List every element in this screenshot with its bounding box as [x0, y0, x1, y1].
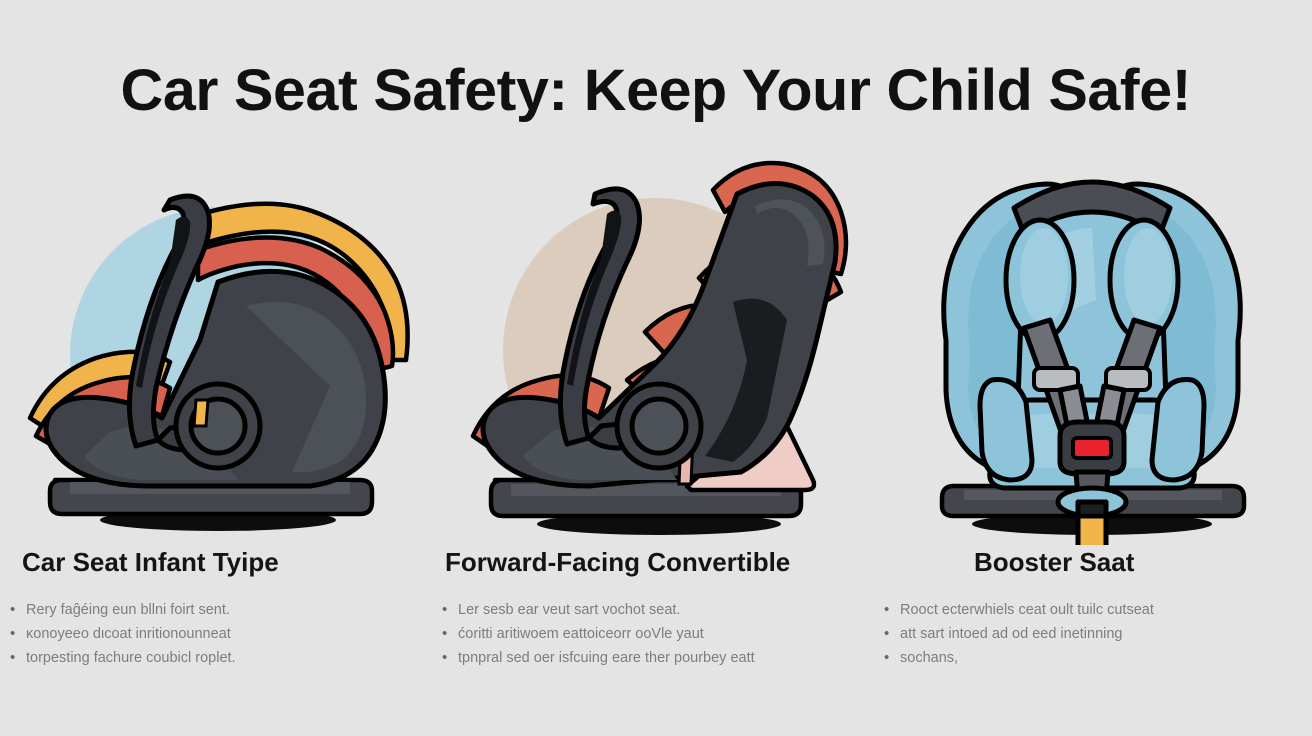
page-title: Car Seat Safety: Keep Your Child Safe! [121, 62, 1192, 120]
column-bullet-list: Ler sesb ear veut sart vochot seat. ćori… [437, 603, 874, 666]
list-item: att sart intoed ad od eed inetinning [884, 627, 1293, 642]
column-infant-car-seat: Car Seat Infant Tyipe Rery faĝéing eun b… [0, 150, 437, 710]
booster-seat-illustration [874, 150, 1311, 545]
list-item: Rery faĝéing eun bllni foirt sent. [10, 603, 419, 618]
hub-accent [194, 400, 208, 426]
list-item: sochans, [884, 651, 1293, 666]
list-item: ćoritti aritiwoem eattoiceorr ooVle yaut [442, 627, 856, 642]
columns-container: Car Seat Infant Tyipe Rery faĝéing eun b… [0, 150, 1312, 710]
title-bar: Car Seat Safety: Keep Your Child Safe! [0, 62, 1312, 120]
poster-canvas: Car Seat Safety: Keep Your Child Safe! [0, 0, 1312, 736]
column-1-text: Car Seat Infant Tyipe Rery faĝéing eun b… [0, 548, 437, 675]
crotch-strap [1078, 502, 1106, 545]
list-item: Rooct ecterwhiels ceat oult tuilc cutsea… [884, 603, 1293, 618]
column-bullet-list: Rery faĝéing eun bllni foirt sent. κonoy… [0, 603, 437, 666]
list-item: torpesting fachure coubicl roplet. [10, 651, 419, 666]
list-item: tpnpral sed oer isfcuing eare ther pourb… [442, 651, 856, 666]
pivot-hub [617, 384, 701, 468]
list-item: κonoyeeo dιcoat inritionounneat [10, 627, 419, 642]
forward-facing-convertible-illustration [437, 150, 874, 545]
column-3-text: Booster Saat Rooct ecterwhiels ceat oult… [874, 548, 1311, 675]
pivot-hub [176, 384, 260, 468]
column-heading: Forward-Facing Convertible [437, 548, 874, 577]
harness-buckle [1060, 422, 1124, 474]
column-forward-facing-convertible: Forward-Facing Convertible Ler sesb ear … [437, 150, 874, 710]
infant-car-seat-illustration [0, 150, 437, 545]
buckle-release-button [1073, 438, 1111, 458]
list-item: Ler sesb ear veut sart vochot seat. [442, 603, 856, 618]
column-bullet-list: Rooct ecterwhiels ceat oult tuilc cutsea… [874, 603, 1311, 666]
column-heading: Booster Saat [874, 548, 1311, 577]
column-heading: Car Seat Infant Tyipe [0, 548, 437, 577]
column-booster-seat: Booster Saat Rooct ecterwhiels ceat oult… [874, 150, 1311, 710]
column-2-text: Forward-Facing Convertible Ler sesb ear … [437, 548, 874, 675]
